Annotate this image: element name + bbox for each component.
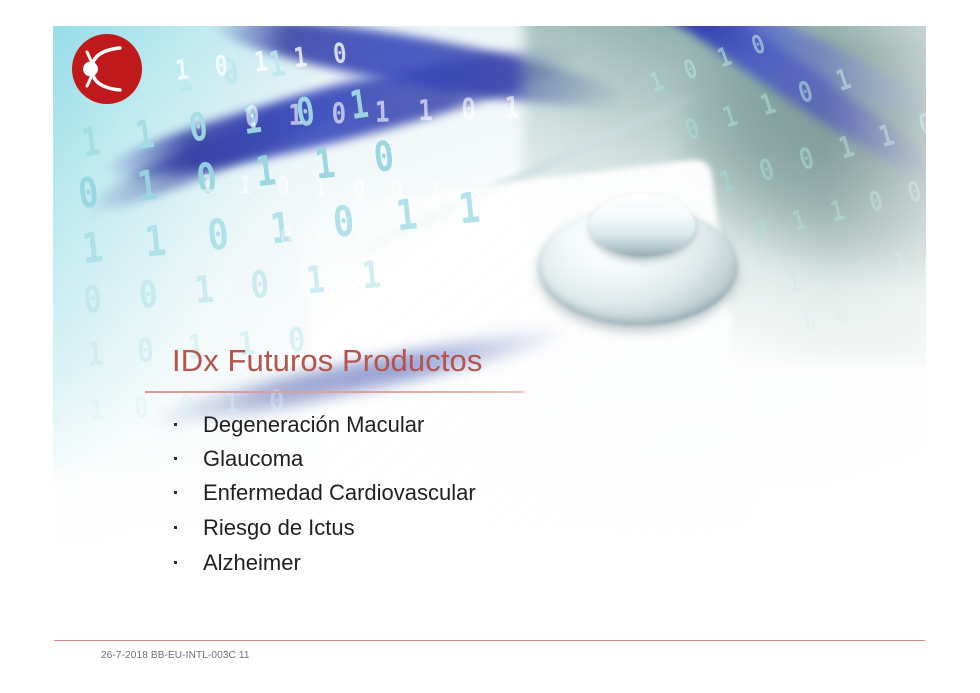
idx-retina-logo-icon [70,32,144,106]
footer-text: 26-7-2018 BB-EU-INTL-003C 11 [101,650,250,661]
list-item: Glaucoma [172,446,812,480]
title-underline-rule [145,391,524,393]
list-item: Enfermedad Cardiovascular [172,480,812,515]
footer-divider [54,640,925,641]
bullet-dot-icon [174,423,177,426]
list-item-label: Glaucoma [203,446,303,470]
future-products-list: Degeneración Macular Glaucoma Enfermedad… [172,412,812,585]
bullet-dot-icon [174,526,177,529]
slide-canvas: 1 0 1 1 0 1 0 1 1 0 1 0 1 1 0 1 0 1 1 0 … [0,0,980,693]
list-item-label: Riesgo de Ictus [203,515,355,539]
bullet-dot-icon [174,457,177,460]
list-item: Alzheimer [172,550,812,585]
list-item-label: Enfermedad Cardiovascular [203,480,476,504]
title-block: IDx Futuros Productos [145,344,705,393]
list-item: Riesgo de Ictus [172,515,812,550]
list-item-label: Degeneración Macular [203,412,424,436]
list-item: Degeneración Macular [172,412,812,446]
list-item-label: Alzheimer [203,550,301,574]
bullet-dot-icon [174,561,177,564]
page-title: IDx Futuros Productos [145,344,705,378]
stethoscope-chestpiece-hub [590,194,695,257]
bullet-dot-icon [174,491,177,494]
